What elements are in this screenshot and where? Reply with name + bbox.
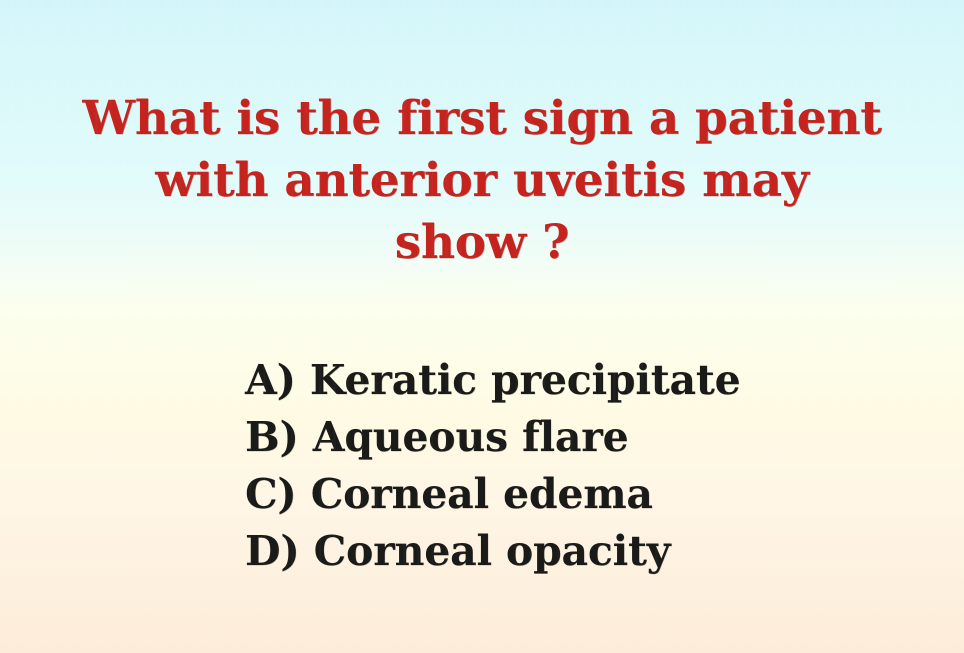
answer-option-d[interactable]: D) Corneal opacity	[245, 523, 945, 580]
answer-option-c[interactable]: C) Corneal edema	[245, 466, 945, 523]
question-title-line-1: What is the first sign a patient	[52, 88, 912, 150]
question-title: What is the first sign a patient with an…	[52, 88, 912, 274]
answer-options-list: A) Keratic precipitate B) Aqueous flare …	[245, 352, 945, 580]
question-title-line-3: show ?	[52, 212, 912, 274]
answer-option-a[interactable]: A) Keratic precipitate	[245, 352, 945, 409]
answer-option-b[interactable]: B) Aqueous flare	[245, 409, 945, 466]
question-title-line-2: with anterior uveitis may	[52, 150, 912, 212]
quiz-slide: What is the first sign a patient with an…	[0, 0, 964, 653]
